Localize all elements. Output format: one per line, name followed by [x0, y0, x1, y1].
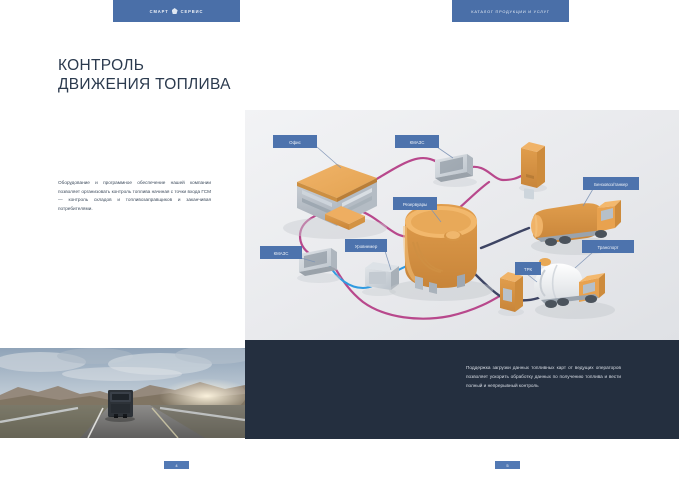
label-text-trk: ТРК	[524, 267, 533, 272]
catalog-button[interactable]: КАТАЛОГ ПРОДУКЦИИ И УСЛУГ	[452, 0, 569, 22]
slide-page: СМАРТ СЕРВИС КАТАЛОГ ПРОДУКЦИИ И УСЛУГ К…	[0, 0, 679, 480]
fuel-flow-diagram-graphic: Офис КМАЗС Резервуары Бензовоз/танкер Тр…	[245, 110, 679, 340]
page-number-left-label: 4	[175, 463, 177, 468]
dark-info-panel: Поддержка загрузки данных топливных карт…	[245, 340, 679, 439]
label-text-kmazs-top: КМАЗС	[410, 140, 425, 145]
highway-truck-photo	[0, 348, 245, 438]
page-title: КОНТРОЛЬ ДВИЖЕНИЯ ТОПЛИВА	[58, 56, 231, 94]
brand-logo-label: СМАРТ	[150, 9, 169, 14]
dark-panel-paragraph: Поддержка загрузки данных топливных карт…	[466, 364, 621, 390]
diagram-label-office: Офис	[273, 135, 317, 148]
diagram-label-levelgauge: Уровнемер	[345, 239, 387, 252]
page-number-left[interactable]: 4	[164, 461, 189, 469]
pentagon-logo-icon	[172, 8, 178, 14]
label-text-tanks: Резервуары	[403, 202, 427, 207]
highway-photo-graphic	[0, 348, 245, 438]
diagram-label-kmazs-top: КМАЗС	[395, 135, 439, 148]
diagram-label-trk: ТРК	[515, 262, 541, 275]
lead-paragraph: Оборудование и программное обеспечение н…	[58, 179, 211, 213]
brand-logo-label-second: СЕРВИС	[181, 9, 204, 14]
label-text-levelgauge: Уровнемер	[355, 244, 378, 249]
brand-logo-bar[interactable]: СМАРТ СЕРВИС	[113, 0, 240, 22]
trk-dispenser-object	[498, 272, 524, 316]
label-text-office: Офис	[289, 140, 301, 145]
label-text-kmazs-left: КМАЗС	[274, 251, 289, 256]
diagram-label-kmazs-left: КМАЗС	[260, 246, 302, 259]
catalog-button-label: КАТАЛОГ ПРОДУКЦИИ И УСЛУГ	[471, 9, 549, 14]
page-number-right[interactable]: 5	[495, 461, 520, 469]
diagram-label-tanks: Резервуары	[393, 197, 437, 210]
fuel-flow-diagram: Офис КМАЗС Резервуары Бензовоз/танкер Тр…	[245, 110, 679, 340]
label-text-benzovoz: Бензовоз/танкер	[594, 182, 628, 187]
diagram-label-benzovoz: Бензовоз/танкер	[583, 177, 639, 190]
diagram-label-transport: Транспорт	[582, 240, 634, 253]
kmazs-terminal-left-object	[297, 248, 341, 283]
page-number-right-label: 5	[506, 463, 508, 468]
label-text-transport: Транспорт	[597, 245, 618, 250]
